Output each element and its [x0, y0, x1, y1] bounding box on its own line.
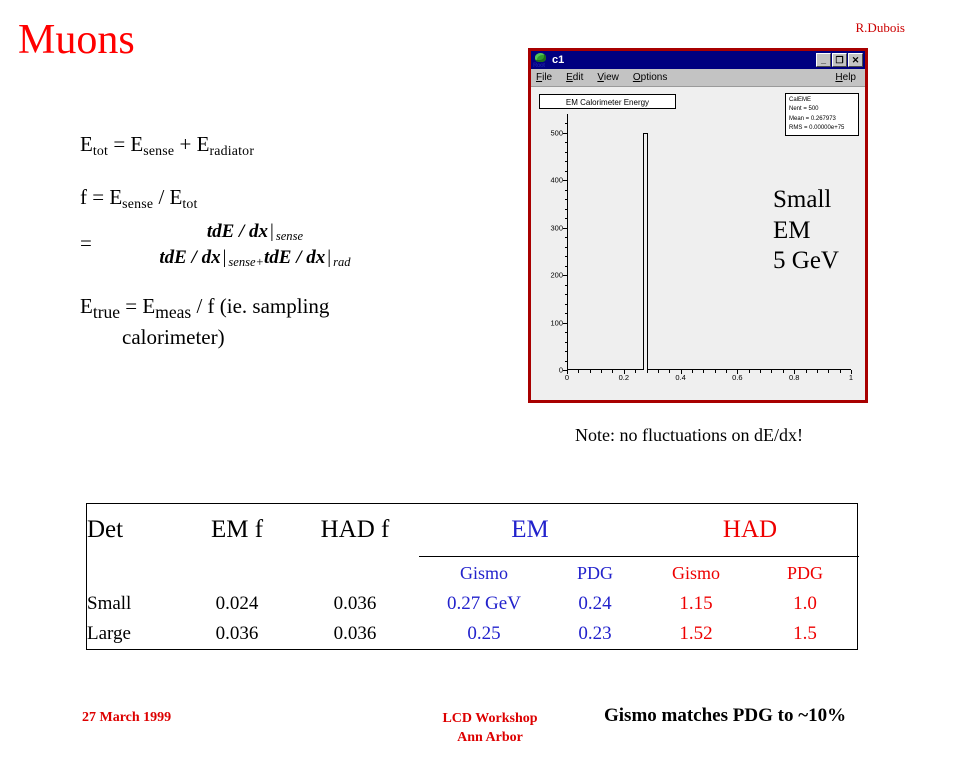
x-tick-minor [669, 370, 670, 373]
eq4-lhs-base: E [80, 294, 93, 318]
x-tick-minor [635, 370, 636, 373]
y-tick-minor [565, 313, 568, 314]
eq4-paren: (ie. sampling [215, 294, 330, 318]
row1-had-gismo: 1.52 [641, 619, 751, 649]
row0-had-f: 0.036 [291, 589, 419, 619]
window-title: c1 [552, 54, 816, 66]
subheader-had-pdg: PDG [751, 557, 859, 590]
footer-venue-line2: Ann Arbor [400, 729, 580, 748]
frac-den-plus: + [256, 256, 264, 270]
y-tick-label: 400 [550, 176, 563, 185]
header-em-group: EM [419, 504, 641, 557]
eq1-t1-base: E [130, 132, 143, 156]
x-tick-minor [840, 370, 841, 373]
header-had-f: HAD f [291, 504, 419, 557]
x-tick-minor [715, 370, 716, 373]
eq1-lhs-sub: tot [93, 143, 108, 158]
eq1-lhs-base: E [80, 132, 93, 156]
x-tick-minor [601, 370, 602, 373]
x-tick-minor [828, 370, 829, 373]
menu-file-rest: ile [542, 72, 552, 83]
histogram-canvas[interactable]: EM Calorimeter Energy CalEME Nent = 500 … [531, 86, 865, 400]
x-tick-minor [612, 370, 613, 373]
eq2-lhs-base: f [80, 185, 87, 209]
root-tree-glyph [535, 53, 546, 62]
footer-venue-line1: LCD Workshop [400, 710, 580, 729]
subheader-em-pdg: PDG [549, 557, 641, 590]
subheader-em-gismo: Gismo [419, 557, 549, 590]
y-tick-minor [565, 190, 568, 191]
x-tick-minor [771, 370, 772, 373]
root-canvas-window[interactable]: Root c1 _ ❐ ✕ File Edit View Options Hel… [528, 48, 868, 403]
y-tick-minor [565, 304, 568, 305]
y-tick-minor [565, 266, 568, 267]
window-titlebar[interactable]: Root c1 _ ❐ ✕ [531, 51, 865, 69]
frac-den-main-1: tdE / dx [159, 247, 220, 268]
eq2-t2-base: E [170, 185, 183, 209]
row0-had-gismo: 1.15 [641, 589, 751, 619]
table-header-row: Det EM f HAD f EM HAD [87, 504, 859, 557]
eq4-paren2: calorimeter) [122, 324, 225, 351]
y-tick [563, 275, 567, 276]
y-tick-minor [565, 123, 568, 124]
y-tick-minor [565, 361, 568, 362]
eq1-equals: = [108, 132, 130, 156]
y-tick-label: 300 [550, 223, 563, 232]
row0-had-pdg: 1.0 [751, 589, 859, 619]
eq1-t2-sub: radiator [209, 143, 254, 158]
x-tick-minor [692, 370, 693, 373]
x-tick-label: 0.8 [789, 373, 799, 382]
x-tick-minor [783, 370, 784, 373]
y-tick-minor [565, 209, 568, 210]
x-tick-minor [806, 370, 807, 373]
y-tick-label: 0 [559, 366, 563, 375]
footer-conclusion: Gismo matches PDG to ~10% [604, 705, 846, 727]
equation-fraction: = tdE / dx|sense tdE / dx|sense+tdE / dx… [80, 218, 410, 270]
frac-den-sub-2: rad [333, 256, 350, 270]
stat-name: CalEME [789, 96, 855, 105]
y-tick-minor [565, 332, 568, 333]
footer-venue: LCD Workshop Ann Arbor [400, 710, 580, 748]
y-tick-label: 200 [550, 271, 563, 280]
x-tick-label: 0.6 [732, 373, 742, 382]
frac-den-vbar-2: | [325, 247, 333, 268]
maximize-icon[interactable]: ❐ [832, 53, 847, 67]
y-tick-minor [565, 342, 568, 343]
subheader-had-gismo: Gismo [641, 557, 751, 590]
fluctuation-note: Note: no fluctuations on dE/dx! [575, 425, 803, 446]
y-tick [563, 323, 567, 324]
x-tick-label: 0 [565, 373, 569, 382]
y-tick-minor [565, 199, 568, 200]
row0-det: Small [87, 589, 183, 619]
eq2-slash: / [153, 185, 169, 209]
x-tick-minor [760, 370, 761, 373]
fraction-numerator: tdE / dx|sense [201, 221, 309, 244]
header-det: Det [87, 504, 183, 557]
fraction-body: tdE / dx|sense tdE / dx|sense+tdE / dx|r… [100, 218, 410, 270]
eq4-t1-base: E [142, 294, 155, 318]
y-tick-minor [565, 294, 568, 295]
author-credit: R.Dubois [856, 20, 905, 36]
row1-had-f: 0.036 [291, 619, 419, 649]
eq1-t1-sub: sense [143, 143, 174, 158]
page-title: Muons [18, 18, 135, 62]
x-tick-minor [703, 370, 704, 373]
row1-em-f: 0.036 [183, 619, 291, 649]
y-tick-minor [565, 256, 568, 257]
menu-item-options[interactable]: Options [633, 72, 667, 83]
row0-em-f: 0.024 [183, 589, 291, 619]
menu-edit-rest: dit [573, 72, 584, 83]
y-tick-minor [565, 351, 568, 352]
x-tick-label: 0.2 [619, 373, 629, 382]
menu-item-file[interactable]: File [536, 72, 552, 83]
overlay-annotation: Small EM 5 GeV [773, 185, 839, 277]
y-tick-minor [565, 171, 568, 172]
table-row: Small 0.024 0.036 0.27 GeV 0.24 1.15 1.0 [87, 589, 859, 619]
eq1-t2-base: E [197, 132, 210, 156]
x-tick-minor [658, 370, 659, 373]
x-tick-minor [749, 370, 750, 373]
y-tick-minor [565, 152, 568, 153]
row0-em-pdg: 0.24 [549, 589, 641, 619]
y-tick [563, 228, 567, 229]
x-tick-minor [817, 370, 818, 373]
eq4-equals: = [120, 294, 142, 318]
equation-etrue: Etrue = Emeas / f (ie. sampling calorime… [80, 293, 410, 351]
fraction-denominator: tdE / dx|sense+tdE / dx|rad [155, 245, 354, 268]
frac-num-vbar: | [268, 221, 276, 242]
overlay-line-1: Small [773, 185, 839, 216]
menu-item-view[interactable]: View [597, 72, 619, 83]
menu-item-help[interactable]: Help [835, 72, 856, 83]
eq2-t2-sub: tot [182, 196, 197, 211]
subheader-spacer-3 [291, 557, 419, 590]
frac-den-sub-1: sense [228, 256, 255, 270]
y-tick-minor [565, 218, 568, 219]
x-tick-minor [647, 370, 648, 373]
row1-em-pdg: 0.23 [549, 619, 641, 649]
eq2-equals: = [87, 185, 109, 209]
y-tick-label: 500 [550, 128, 563, 137]
frac-num-sub: sense [276, 229, 303, 243]
y-tick-minor [565, 237, 568, 238]
minimize-icon[interactable]: _ [816, 53, 831, 67]
menu-options-mnemonic: O [633, 72, 641, 83]
window-menubar: File Edit View Options Help [531, 69, 865, 86]
x-tick-minor [578, 370, 579, 373]
frac-den-main-2: tdE / dx [264, 247, 325, 268]
y-tick-minor [565, 142, 568, 143]
table-subheader-row: Gismo PDG Gismo PDG [87, 557, 859, 590]
x-tick-minor [726, 370, 727, 373]
menu-view-rest: iew [604, 72, 619, 83]
menu-item-edit[interactable]: Edit [566, 72, 583, 83]
eq4-t1-sub: meas [155, 302, 191, 322]
eq1-plus: + [174, 132, 196, 156]
menu-help-mnemonic: H [835, 72, 842, 83]
row1-em-gismo: 0.25 [419, 619, 549, 649]
table-row: Large 0.036 0.036 0.25 0.23 1.52 1.5 [87, 619, 859, 649]
histogram-bar [643, 133, 648, 370]
y-tick-minor [565, 161, 568, 162]
equation-etot: Etot = Esense + Eradiator [80, 132, 410, 159]
y-tick [563, 133, 567, 134]
frac-num-main: tdE / dx [207, 221, 268, 242]
eq2-t1-sub: sense [122, 196, 153, 211]
header-had-group: HAD [641, 504, 859, 557]
root-icon-label: Root [533, 63, 545, 69]
row0-em-gismo: 0.27 GeV [419, 589, 549, 619]
x-tick-minor [590, 370, 591, 373]
eq2-t1-base: E [109, 185, 122, 209]
root-app-icon: Root [533, 53, 548, 68]
histogram-title: EM Calorimeter Energy [539, 94, 676, 109]
fraction-equals: = [80, 231, 92, 258]
eq4-lhs-sub: true [93, 302, 120, 322]
x-tick-label: 0.4 [675, 373, 685, 382]
y-tick [563, 180, 567, 181]
x-tick-label: 1 [849, 373, 853, 382]
row1-had-pdg: 1.5 [751, 619, 859, 649]
row1-det: Large [87, 619, 183, 649]
subheader-spacer-1 [87, 557, 183, 590]
footer-date: 27 March 1999 [82, 710, 171, 726]
y-tick-minor [565, 285, 568, 286]
y-tick-label: 100 [550, 318, 563, 327]
eq4-slash: / f [191, 294, 214, 318]
menu-edit-mnemonic: E [566, 72, 573, 83]
overlay-line-3: 5 GeV [773, 246, 839, 277]
equation-f: f = Esense / Etot [80, 185, 410, 212]
menu-options-rest: ptions [641, 72, 668, 83]
close-icon[interactable]: ✕ [848, 53, 863, 67]
menu-help-rest: elp [843, 72, 856, 83]
overlay-line-2: EM [773, 216, 839, 247]
results-table: Det EM f HAD f EM HAD Gismo PDG Gismo PD… [86, 503, 858, 650]
subheader-spacer-2 [183, 557, 291, 590]
equations-block: Etot = Esense + Eradiator f = Esense / E… [80, 132, 410, 351]
window-controls: _ ❐ ✕ [816, 53, 863, 67]
y-tick-minor [565, 247, 568, 248]
header-em-f: EM f [183, 504, 291, 557]
